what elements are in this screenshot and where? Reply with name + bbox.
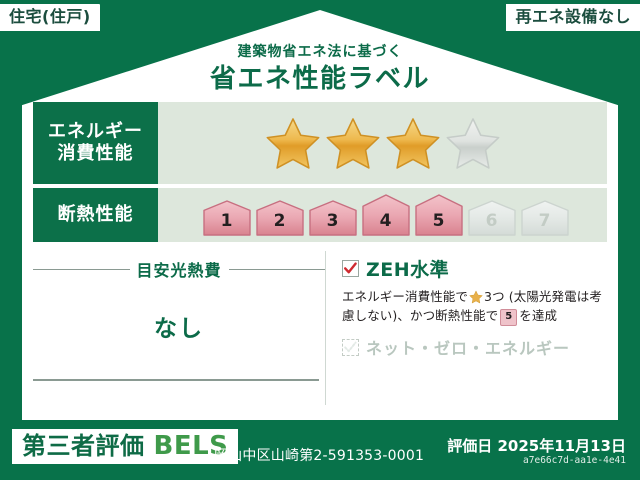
label-content: エネルギー 消費性能 断熱性能 1234567 目安光熱費 なし — [33, 102, 607, 407]
energy-performance-label: エネルギー 消費性能 — [33, 102, 158, 184]
star-filled-icon — [385, 116, 441, 170]
insulation-level-number: 6 — [467, 213, 517, 230]
property-address: 岡山中区山崎第2-591353-0001 — [214, 445, 424, 465]
zeh-description: エネルギー消費性能で3つ (太陽光発電は考慮しない)、かつ断熱性能で5を達成 — [342, 287, 607, 326]
zeh-description-part3: を達成 — [519, 308, 557, 323]
insulation-performance-value: 1234567 — [158, 188, 607, 242]
zeh-standard-line: ZEH水準 — [342, 255, 607, 282]
third-party-evaluation-text: 第三者評価 — [22, 434, 145, 458]
mini-star-icon — [469, 290, 483, 304]
utility-cost-panel: 目安光熱費 なし — [33, 251, 325, 405]
utility-cost-heading-text: 目安光熱費 — [137, 257, 222, 281]
bels-energy-label: 住宅(住戸) 再エネ設備なし 建築物省エネ法に基づく 省エネ性能ラベル エネルギ… — [0, 0, 640, 480]
lower-section: 目安光熱費 なし ZEH水準 エネルギー消費性能で3つ (太陽光発電は考 — [33, 251, 607, 405]
net-zero-energy-label: ネット・ゼロ・エネルギー — [366, 335, 570, 359]
utility-cost-value: なし — [33, 309, 325, 343]
insulation-level-4: 4 — [361, 193, 411, 237]
star-filled-icon — [265, 116, 321, 170]
insulation-level-number: 2 — [255, 213, 305, 230]
star-filled-icon — [325, 116, 381, 170]
zeh-insulation-chip: 5 — [500, 309, 517, 326]
label-footer: 第三者評価 BELS 岡山中区山崎第2-591353-0001 評価日 2025… — [0, 425, 640, 480]
insulation-level-5: 5 — [414, 193, 464, 237]
badge-building-type: 住宅(住戸) — [0, 4, 100, 31]
rule-right — [229, 269, 326, 270]
insulation-level-1: 1 — [202, 199, 252, 237]
zeh-description-part1: エネルギー消費性能で — [342, 289, 468, 304]
insulation-level-2: 2 — [255, 199, 305, 237]
insulation-level-number: 3 — [308, 213, 358, 230]
net-zero-energy-checkbox-unchecked[interactable] — [342, 339, 359, 356]
evaluation-code: a7e66c7d-aa1e-4e41 — [523, 455, 626, 466]
insulation-performance-label: 断熱性能 — [33, 188, 158, 242]
insulation-level-7: 7 — [520, 199, 570, 237]
net-zero-energy-line: ネット・ゼロ・エネルギー — [342, 335, 607, 359]
rule-left — [33, 269, 130, 270]
zeh-standard-title: ZEH水準 — [366, 255, 449, 282]
page-title: 省エネ性能ラベル — [0, 58, 640, 95]
zeh-checkbox-checked[interactable] — [342, 260, 359, 277]
bels-logo-plate: 第三者評価 BELS — [12, 429, 238, 464]
star-empty-icon — [445, 116, 501, 170]
insulation-level-6: 6 — [467, 199, 517, 237]
insulation-level-number: 7 — [520, 213, 570, 230]
insulation-level-3: 3 — [308, 199, 358, 237]
star-rating — [265, 116, 501, 170]
insulation-level-number: 5 — [414, 213, 464, 230]
energy-performance-row: エネルギー 消費性能 — [33, 102, 607, 184]
utility-cost-underline — [33, 379, 319, 381]
insulation-level-number: 1 — [202, 213, 252, 230]
insulation-level-number: 4 — [361, 213, 411, 230]
utility-cost-heading: 目安光熱費 — [33, 257, 325, 281]
energy-label-line2: 消費性能 — [58, 143, 134, 166]
energy-label-line1: エネルギー — [48, 121, 143, 144]
zeh-panel: ZEH水準 エネルギー消費性能で3つ (太陽光発電は考慮しない)、かつ断熱性能で… — [325, 251, 607, 405]
insulation-level-scale: 1234567 — [196, 193, 570, 237]
energy-performance-value — [158, 102, 607, 184]
insulation-performance-row: 断熱性能 1234567 — [33, 188, 607, 242]
evaluation-date: 評価日 2025年11月13日 — [447, 435, 626, 456]
badge-renewable-energy: 再エネ設備なし — [506, 4, 640, 31]
